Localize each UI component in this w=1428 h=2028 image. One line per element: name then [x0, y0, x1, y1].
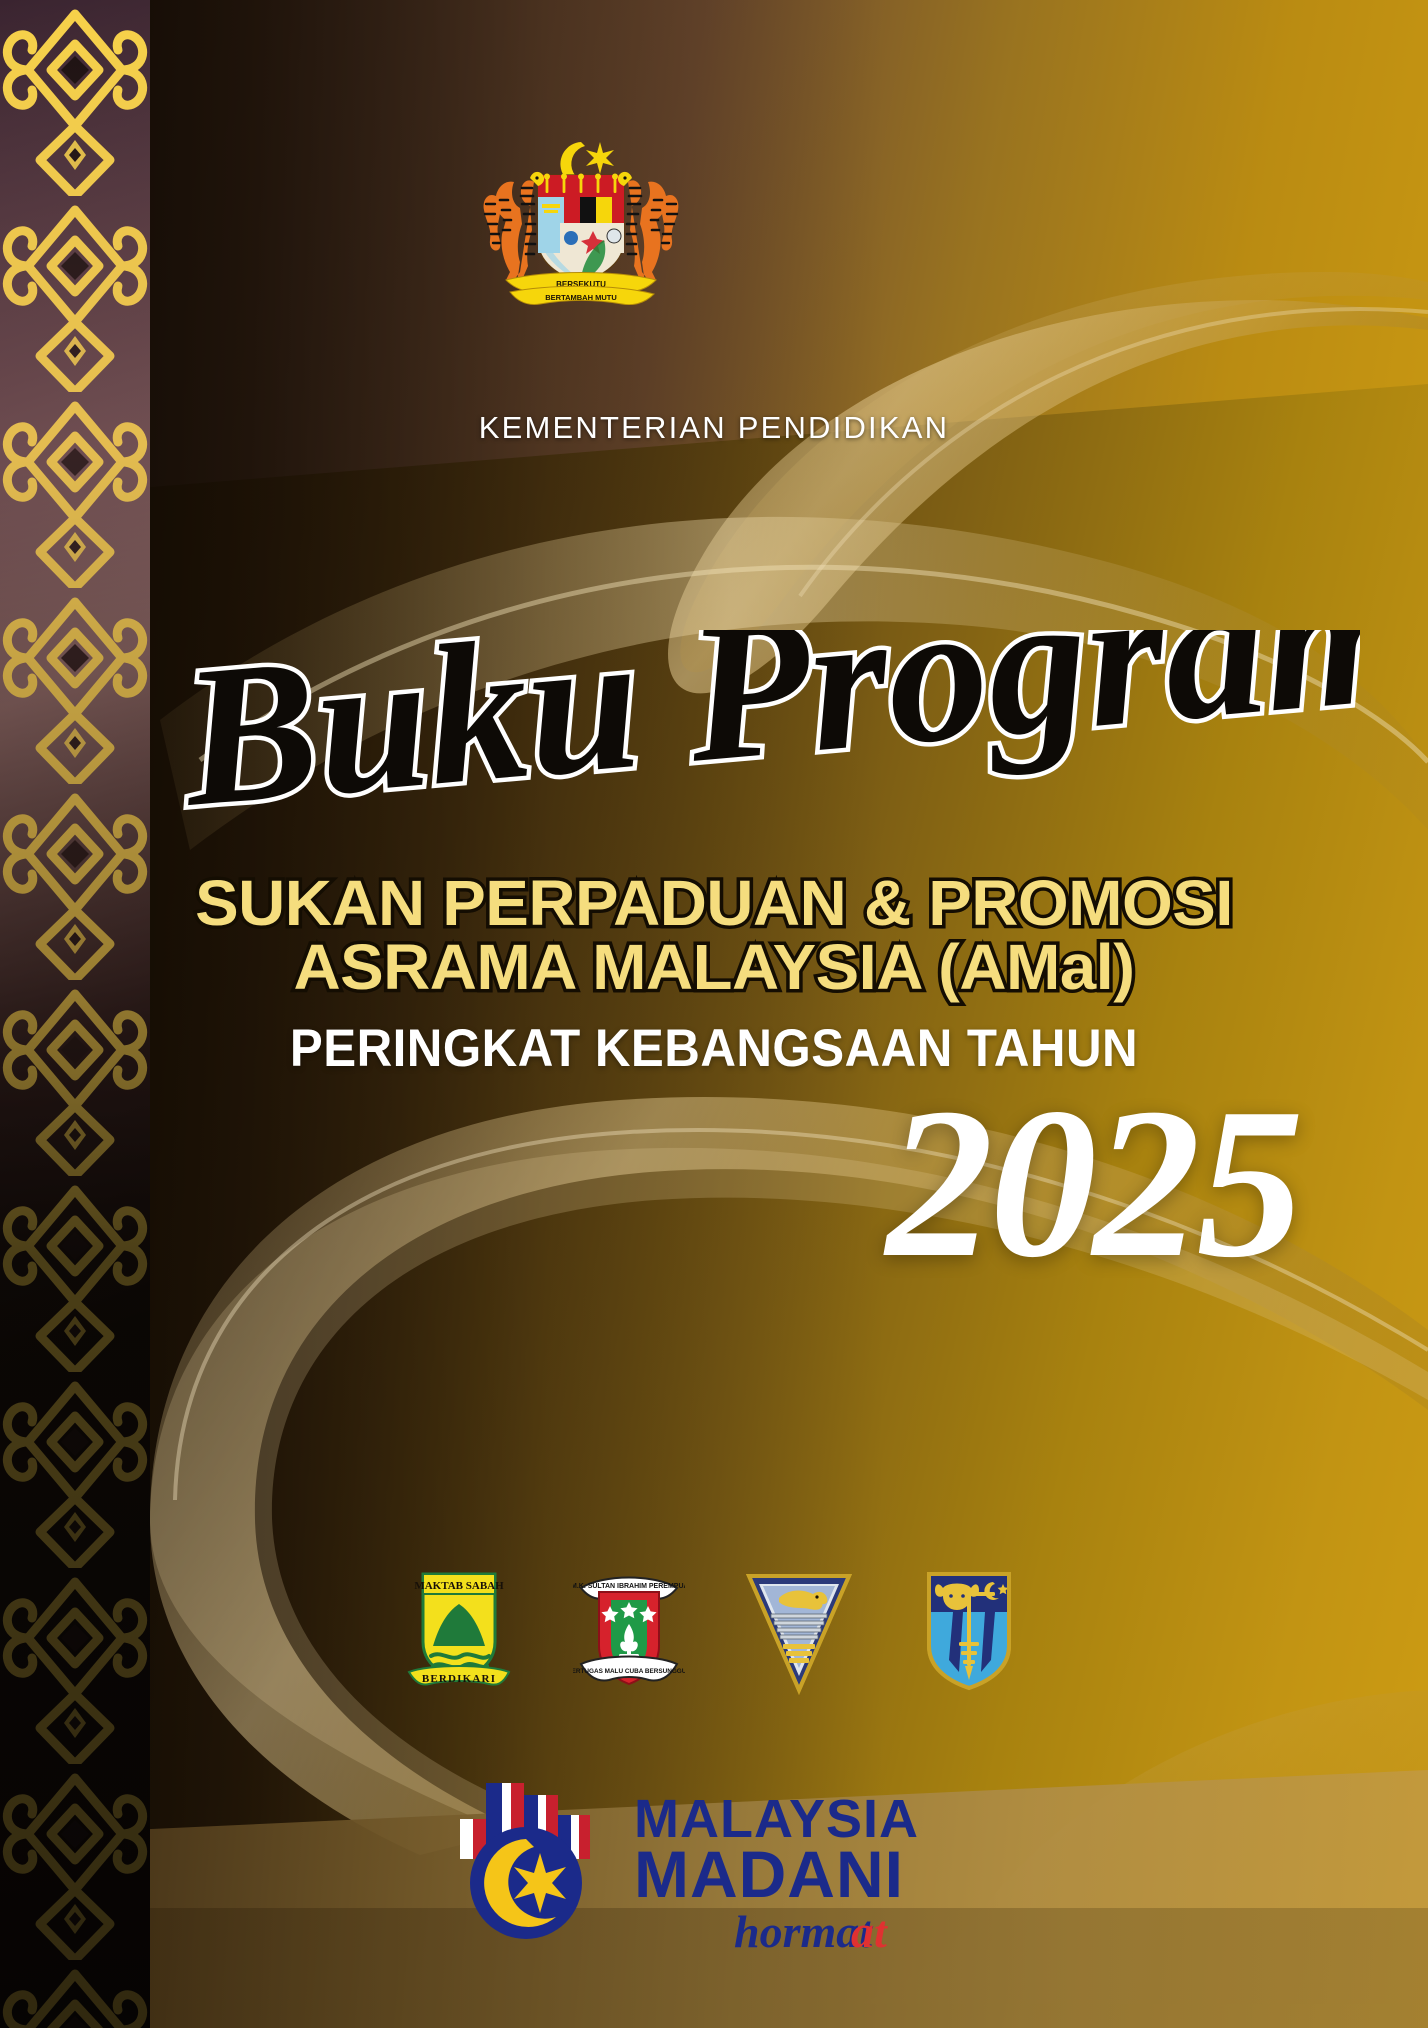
school-crest-row: MAKTAB SABAH BERDIKARI S.M.K. SULTAN IBR…: [0, 1568, 1428, 1700]
crest-bull-head-school: [913, 1568, 1025, 1700]
crest-smk-title: S.M.K. SULTAN IBRAHIM PEREMPUAN: [573, 1583, 685, 1590]
headline-line-2: ASRAMA MALAYSIA (AMal): [0, 930, 1428, 1004]
ministry-name: KEMENTERIAN PENDIDIKAN: [0, 410, 1428, 446]
crest-smk-motto: BERTUGAS MALU CUBA BERSUNGGUH: [573, 1668, 685, 1675]
coat-of-arms-icon: BERSEKUTU BERTAMBAH MUTU: [476, 130, 686, 305]
tiger-left-icon: [484, 172, 544, 282]
crest-smk-sultan-ibrahim-perempuan: S.M.K. SULTAN IBRAHIM PEREMPUAN BERTUGAS…: [573, 1568, 685, 1700]
songket-motif-icon: [0, 0, 150, 2028]
left-songket-border: [0, 0, 150, 2028]
cover-page: BERSEKUTU BERTAMBAH MUTU KEMENTERIAN PEN…: [0, 0, 1428, 2028]
crest-maktab-sabah-motto: BERDIKARI: [422, 1673, 496, 1685]
shield-icon: [538, 174, 624, 283]
malaysia-madani-logo: MALAYSIA MADANI hormat at: [0, 1775, 1428, 1965]
crest-eagle-v-school: [743, 1568, 855, 1700]
motto-bottom-text: BERTAMBAH MUTU: [545, 293, 617, 302]
crest-eagle-v-icon: [743, 1568, 855, 1700]
jata-negara-emblem: BERSEKUTU BERTAMBAH MUTU: [476, 130, 686, 305]
crest-bull-head-icon: [913, 1568, 1025, 1700]
script-title-svg: Buku Program: [180, 630, 1360, 860]
crest-maktab-sabah-icon: MAKTAB SABAH BERDIKARI: [403, 1568, 515, 1700]
year-text: 2025: [886, 1075, 1300, 1290]
tiger-right-icon: [618, 172, 678, 282]
madani-crescent-star-icon: [470, 1827, 582, 1939]
madani-tagline-accent: at: [851, 1906, 888, 1957]
crest-maktab-sabah-title: MAKTAB SABAH: [414, 1580, 504, 1592]
motto-ribbon: BERSEKUTU BERTAMBAH MUTU: [506, 273, 656, 305]
script-title-text: Buku Program: [180, 630, 1360, 849]
crest-maktab-sabah: MAKTAB SABAH BERDIKARI: [403, 1568, 515, 1700]
gold-ribbon-swirls: [0, 0, 1428, 2028]
crest-smk-sultan-ibrahim-icon: S.M.K. SULTAN IBRAHIM PEREMPUAN BERTUGAS…: [573, 1568, 685, 1700]
headline-line-1: SUKAN PERPADUAN & PROMOSI: [0, 866, 1428, 940]
madani-line-2: MADANI: [634, 1837, 904, 1911]
malaysia-madani-logo-icon: MALAYSIA MADANI hormat at: [434, 1775, 994, 1965]
script-title-buku-program: Buku Program: [180, 630, 1360, 860]
